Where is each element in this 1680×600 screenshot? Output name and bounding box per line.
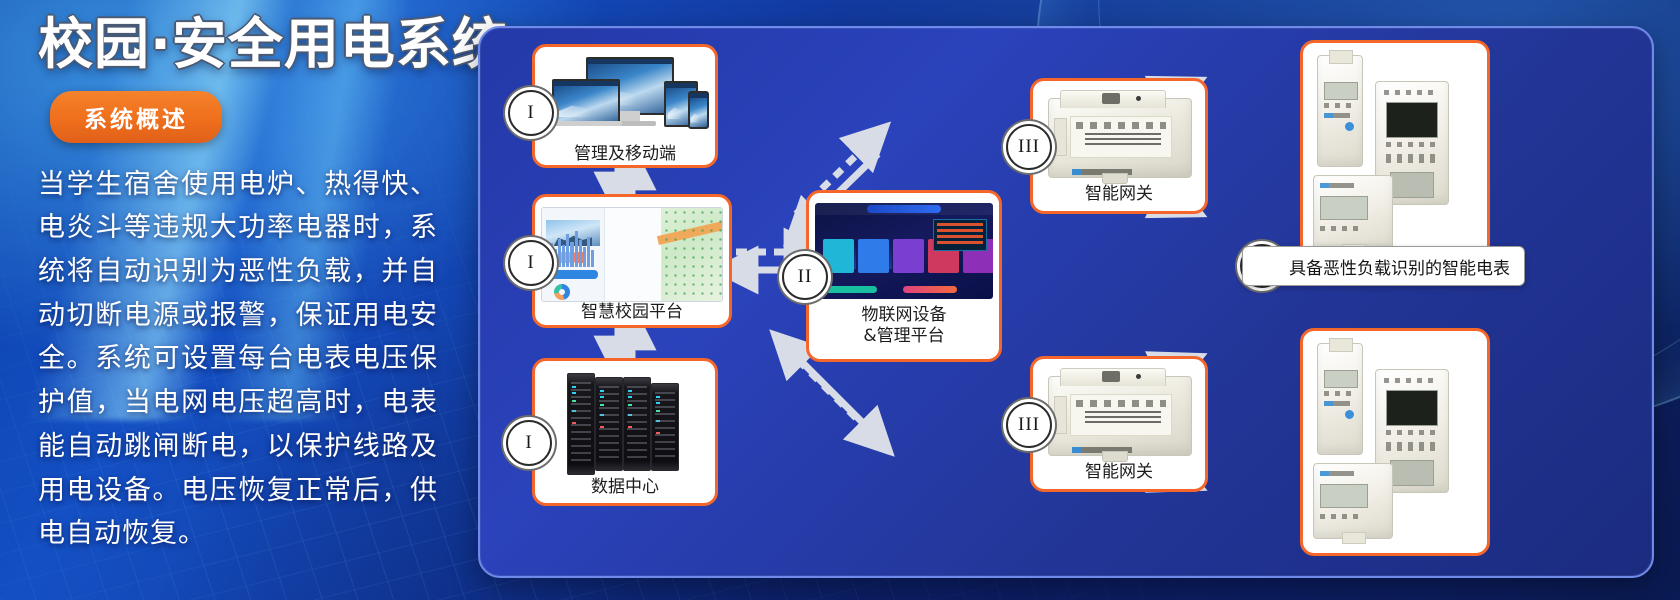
server-rack-icon xyxy=(651,383,679,471)
dashboard-map-icon xyxy=(662,208,722,301)
meter-lcd-icon xyxy=(1320,484,1368,508)
node-admin-mobile[interactable]: 管理及移动端 xyxy=(532,44,718,168)
smart-meter-icon xyxy=(1317,55,1363,167)
node-gateway-bottom-label: 智能网关 xyxy=(1085,462,1153,483)
gateway-usb-port-icon xyxy=(1102,371,1120,382)
node-smart-campus-label: 智慧校园平台 xyxy=(581,302,683,323)
meter-text-row-icon xyxy=(1324,103,1356,108)
meter-lcd-icon xyxy=(1386,390,1438,426)
meter-text-row-icon xyxy=(1386,430,1436,435)
gateway-usb-port-icon xyxy=(1102,93,1120,104)
gateway-clip-icon xyxy=(1102,451,1128,462)
meter-brand-icon xyxy=(1320,183,1354,188)
meter-brand-icon xyxy=(1324,401,1350,406)
meter-barcode-icon xyxy=(1386,442,1436,451)
meters-group-top[interactable] xyxy=(1300,40,1490,268)
meter-text-row-icon xyxy=(1384,378,1438,383)
meter-terminal-icon xyxy=(1390,460,1434,486)
gateway-label-plate-icon xyxy=(1070,394,1172,436)
gateway-device-illustration xyxy=(1040,368,1198,462)
page-title: 校园·安全用电系统 xyxy=(38,14,458,75)
arrow-campus-datacenter xyxy=(618,328,632,358)
laptop-icon xyxy=(552,79,620,125)
gateway-clip-icon xyxy=(1102,173,1128,184)
smart-meter-icon xyxy=(1313,463,1393,539)
phone-icon xyxy=(688,91,709,129)
meter-barcode-icon xyxy=(1386,154,1436,163)
node-gateway-top[interactable]: 智能网关 xyxy=(1030,78,1208,214)
server-rack-icon xyxy=(595,377,623,471)
dashboard-middle-panel-icon xyxy=(605,208,662,301)
dashboard-donut-chart-icon xyxy=(554,284,570,300)
infographic-stage: 校园·安全用电系统 系统概述 当学生宿舍使用电炉、热得快、电炎斗等违规大功率电器… xyxy=(0,0,1680,600)
meter-lcd-icon xyxy=(1324,82,1358,100)
node-smart-campus[interactable]: 智慧校园平台 xyxy=(532,194,732,328)
badge-data-center: I xyxy=(506,420,552,466)
node-admin-mobile-label: 管理及移动端 xyxy=(574,144,676,165)
dashboard-button-icon xyxy=(546,270,598,279)
node-data-center-label: 数据中心 xyxy=(591,477,659,498)
badge-iot-platform: II xyxy=(782,254,828,300)
laptop-base-icon xyxy=(546,121,622,126)
node-data-center[interactable]: 数据中心 xyxy=(532,358,718,506)
badge-gateway-bottom: III xyxy=(1006,402,1052,448)
smart-campus-dashboard-illustration xyxy=(541,207,723,302)
gateway-device-illustration xyxy=(1040,90,1198,184)
server-rack-icon xyxy=(623,377,651,471)
meter-cap-icon xyxy=(1329,50,1353,64)
callout-smart-meter[interactable]: 具备恶性负载识别的智能电表 xyxy=(1242,246,1525,286)
iot-ledboard-icon xyxy=(933,219,987,251)
admin-mobile-illustration xyxy=(542,57,708,144)
node-iot-platform[interactable]: 物联网设备 &管理平台 xyxy=(806,190,1002,362)
meter-button-icon xyxy=(1345,410,1354,419)
meter-text-row-icon xyxy=(1384,90,1438,95)
meter-brand-icon xyxy=(1324,113,1350,118)
diagram-panel: 管理及移动端 I 智慧校园平台 I xyxy=(478,26,1654,578)
node-gateway-bottom[interactable]: 智能网关 xyxy=(1030,356,1208,492)
meter-text-row-icon xyxy=(1320,514,1364,519)
meter-terminal-icon xyxy=(1390,172,1434,198)
iot-title-icon xyxy=(867,205,941,213)
meter-brand-icon xyxy=(1320,471,1354,476)
node-iot-platform-label-line2: &管理平台 xyxy=(863,326,944,347)
meter-text-row-icon xyxy=(1320,226,1364,231)
meter-button-icon xyxy=(1345,122,1354,131)
gateway-led-icon xyxy=(1136,96,1141,101)
node-gateway-top-label: 智能网关 xyxy=(1085,184,1153,205)
meter-lcd-icon xyxy=(1324,370,1358,388)
badge-admin-mobile: I xyxy=(508,90,554,136)
meter-text-row-icon xyxy=(1324,391,1356,396)
iot-platform-screen-illustration xyxy=(815,203,993,299)
meter-text-row-icon xyxy=(1386,142,1436,147)
server-rack-icon xyxy=(567,373,595,475)
gateway-side-panel-icon xyxy=(1054,118,1067,156)
section-badge: 系统概述 xyxy=(50,91,222,143)
badge-gateway-top: III xyxy=(1006,124,1052,170)
node-iot-platform-label-line1: 物联网设备 xyxy=(862,305,947,326)
callout-label: 具备恶性负载识别的智能电表 xyxy=(1289,254,1510,279)
badge-smart-campus: I xyxy=(508,240,554,286)
description-text: 当学生宿舍使用电炉、热得快、电炎斗等违规大功率电器时，系统将自动识别为恶性负载，… xyxy=(38,163,438,557)
left-column: 校园·安全用电系统 系统概述 当学生宿舍使用电炉、热得快、电炎斗等违规大功率电器… xyxy=(38,14,458,556)
meters-group-bottom[interactable] xyxy=(1300,328,1490,556)
gateway-label-plate-icon xyxy=(1070,116,1172,158)
gateway-side-panel-icon xyxy=(1054,396,1067,434)
smart-meter-icon xyxy=(1317,343,1363,455)
meter-lcd-icon xyxy=(1320,196,1368,220)
meter-cap-icon xyxy=(1329,338,1353,352)
iot-footer-icon xyxy=(823,286,957,293)
server-rack-illustration xyxy=(565,369,685,477)
gateway-led-icon xyxy=(1136,374,1141,379)
meter-cap-icon xyxy=(1342,532,1366,544)
smart-meter-icon xyxy=(1313,175,1393,251)
arrow-admin-campus xyxy=(618,168,632,194)
meter-lcd-icon xyxy=(1386,102,1438,138)
